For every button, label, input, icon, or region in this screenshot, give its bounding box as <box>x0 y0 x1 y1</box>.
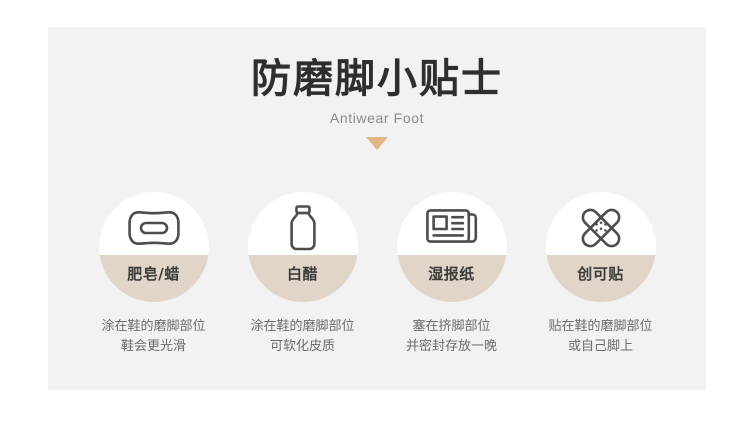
tip-label: 创可贴 <box>546 258 656 288</box>
tip-description: 涂在鞋的磨脚部位 可软化皮质 <box>250 317 354 357</box>
tip-label: 白醋 <box>248 258 358 288</box>
tip-description: 塞在挤脚部位 并密封存放一晚 <box>406 317 497 357</box>
tips-row: 肥皂/蜡 涂在鞋的磨脚部位 鞋会更光滑 白醋 <box>48 192 706 357</box>
tip-badge-vinegar: 白醋 <box>248 192 358 302</box>
tip-description-line1: 贴在鞋的磨脚部位 <box>548 317 652 337</box>
tip-card-soap: 肥皂/蜡 涂在鞋的磨脚部位 鞋会更光滑 <box>86 192 221 357</box>
content-panel: 防磨脚小贴士 Antiwear Foot 肥皂/蜡 涂在鞋的磨脚部位 <box>48 27 706 390</box>
bottle-icon <box>248 202 358 254</box>
tip-card-newspaper: 湿报纸 塞在挤脚部位 并密封存放一晚 <box>384 192 519 357</box>
tip-badge-soap: 肥皂/蜡 <box>99 192 209 302</box>
tip-label: 湿报纸 <box>397 258 507 288</box>
tip-card-vinegar: 白醋 涂在鞋的磨脚部位 可软化皮质 <box>235 192 370 357</box>
tip-description: 贴在鞋的磨脚部位 或自己脚上 <box>548 317 652 357</box>
tip-card-bandage: 创可贴 贴在鞋的磨脚部位 或自己脚上 <box>533 192 668 357</box>
page-subtitle: Antiwear Foot <box>48 101 706 126</box>
crossed-bandages-icon <box>546 202 656 254</box>
tip-description: 涂在鞋的磨脚部位 鞋会更光滑 <box>101 317 205 357</box>
tip-label: 肥皂/蜡 <box>99 258 209 288</box>
newspaper-icon <box>397 202 507 254</box>
tip-description-line2: 并密封存放一晚 <box>406 337 497 357</box>
tip-description-line2: 可软化皮质 <box>250 337 354 357</box>
triangle-down-icon <box>366 137 388 150</box>
tip-description-line2: 鞋会更光滑 <box>101 337 205 357</box>
tip-description-line2: 或自己脚上 <box>548 337 652 357</box>
infographic-page: 防磨脚小贴士 Antiwear Foot 肥皂/蜡 涂在鞋的磨脚部位 <box>0 0 750 432</box>
tip-description-line1: 涂在鞋的磨脚部位 <box>250 317 354 337</box>
soap-bar-icon <box>99 202 209 254</box>
tip-badge-bandage: 创可贴 <box>546 192 656 302</box>
tip-badge-newspaper: 湿报纸 <box>397 192 507 302</box>
tip-description-line1: 塞在挤脚部位 <box>406 317 497 337</box>
header: 防磨脚小贴士 Antiwear Foot <box>48 27 706 150</box>
tip-description-line1: 涂在鞋的磨脚部位 <box>101 317 205 337</box>
page-title: 防磨脚小贴士 <box>48 27 706 101</box>
